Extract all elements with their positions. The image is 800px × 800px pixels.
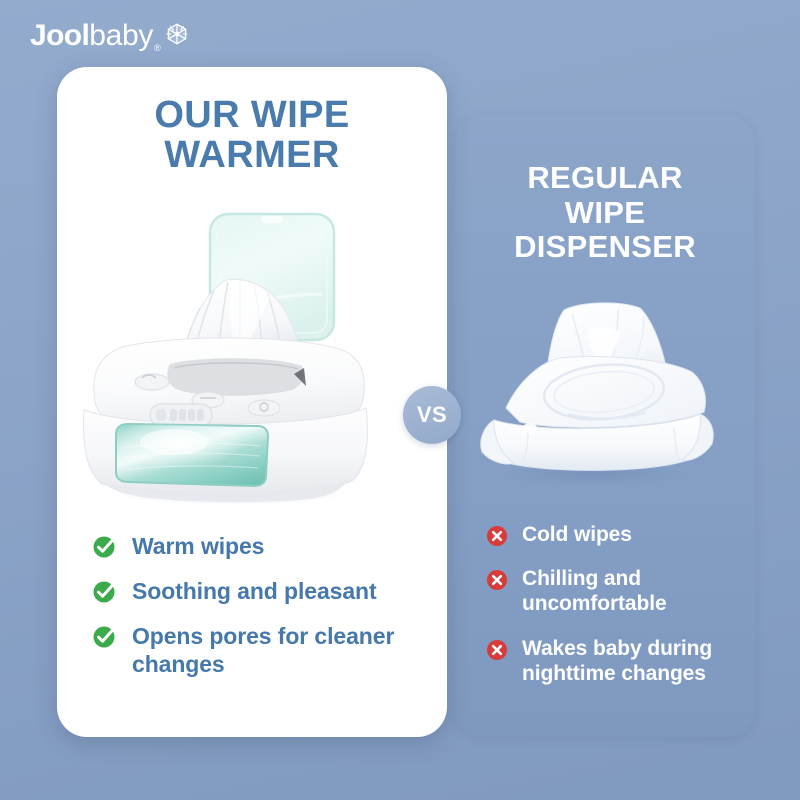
list-item: Wakes baby during nighttime changes [486, 636, 751, 686]
list-item-label: Chilling and uncomfortable [522, 566, 751, 616]
list-item-label: Wakes baby during nighttime changes [522, 636, 751, 686]
check-circle-icon [92, 534, 117, 559]
brand-name-bold: Jool [30, 21, 89, 51]
x-circle-icon [486, 525, 508, 547]
vs-badge: VS [403, 386, 461, 444]
list-item: Opens pores for cleaner changes [92, 622, 422, 678]
wipe-warmer-title: OUR WIPE WARMER [57, 95, 447, 176]
title-line-1: REGULAR [455, 161, 755, 196]
regular-dispenser-feature-list: Cold wipes Chilling and uncomfortable Wa… [486, 522, 751, 705]
brand-logo: Jool baby ® [30, 16, 190, 56]
list-item: Cold wipes [486, 522, 751, 547]
list-item-label: Cold wipes [522, 522, 632, 547]
list-item-label: Soothing and pleasant [132, 577, 377, 605]
check-circle-icon [92, 579, 117, 604]
brand-name-light: baby [89, 21, 153, 51]
wipe-warmer-feature-list: Warm wipes Soothing and pleasant Opens p… [92, 532, 422, 695]
list-item: Warm wipes [92, 532, 422, 560]
list-item-label: Opens pores for cleaner changes [132, 622, 422, 678]
title-line-2: WARMER [57, 135, 447, 175]
registered-mark: ® [154, 43, 161, 53]
list-item: Soothing and pleasant [92, 577, 422, 605]
check-circle-icon [92, 624, 117, 649]
regular-wipe-pouch-image [468, 296, 716, 492]
wipe-warmer-product-image [78, 196, 378, 506]
list-item: Chilling and uncomfortable [486, 566, 751, 616]
title-line-3: DISPENSER [455, 230, 755, 265]
list-item-label: Warm wipes [132, 532, 264, 560]
comparison-infographic: Jool baby ® REGULAR WIPE DISPENSER [0, 0, 800, 800]
regular-dispenser-title: REGULAR WIPE DISPENSER [455, 161, 755, 265]
faceted-gem-icon [164, 21, 190, 52]
title-line-2: WIPE [455, 196, 755, 231]
x-circle-icon [486, 639, 508, 661]
x-circle-icon [486, 569, 508, 591]
title-line-1: OUR WIPE [57, 95, 447, 135]
